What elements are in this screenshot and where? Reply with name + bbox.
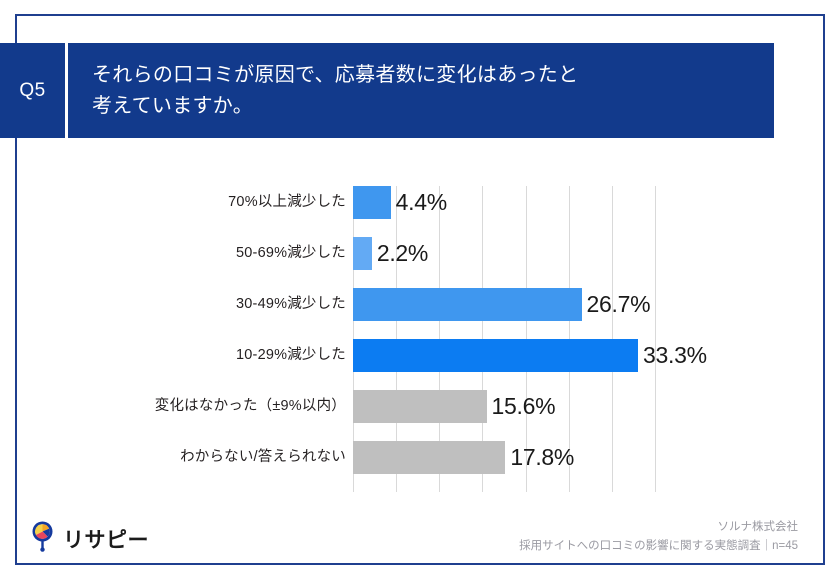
slide-footer: リサピー ソルナ株式会社 採用サイトへの口コミの影響に関する実態調査｜n=45 [0, 512, 840, 582]
question-header: Q5 それらの口コミが原因で、応募者数に変化はあったと 考えていますか。 [0, 43, 774, 138]
bar-category-label: わからない/答えられない [180, 441, 346, 474]
map-pin-pie-chart-icon [30, 520, 56, 557]
source-survey: 採用サイトへの口コミの影響に関する実態調査｜n=45 [519, 537, 798, 556]
source-attribution: ソルナ株式会社 採用サイトへの口コミの影響に関する実態調査｜n=45 [519, 518, 798, 556]
bar-category-label: 変化はなかった（±9%以内） [155, 390, 346, 423]
bar-row: 変化はなかった（±9%以内）15.6% [0, 390, 840, 423]
bar-value-label: 2.2% [377, 237, 428, 270]
bar-row: 30-49%減少した26.7% [0, 288, 840, 321]
bar-row: 70%以上減少した4.4% [0, 186, 840, 219]
bar-rect [353, 339, 638, 372]
bar-series: 70%以上減少した4.4%50-69%減少した2.2%30-49%減少した26.… [0, 186, 840, 496]
bar-value-label: 33.3% [643, 339, 707, 372]
question-number-badge: Q5 [0, 43, 65, 138]
question-text: それらの口コミが原因で、応募者数に変化はあったと 考えていますか。 [68, 60, 592, 122]
bar-value-label: 17.8% [510, 441, 574, 474]
question-text-box: それらの口コミが原因で、応募者数に変化はあったと 考えていますか。 [68, 43, 774, 138]
bar-value-label: 4.4% [396, 186, 447, 219]
source-company: ソルナ株式会社 [519, 518, 798, 537]
bar-row: わからない/答えられない17.8% [0, 441, 840, 474]
bar-category-label: 10-29%減少した [236, 339, 346, 372]
bar-rect [353, 441, 505, 474]
question-number-label: Q5 [19, 80, 45, 102]
bar-category-label: 50-69%減少した [236, 237, 346, 270]
brand-logo-text: リサピー [63, 524, 149, 554]
bar-value-label: 15.6% [492, 390, 556, 423]
bar-row: 10-29%減少した33.3% [0, 339, 840, 372]
bar-rect [353, 186, 391, 219]
bar-rect [353, 288, 582, 321]
bar-row: 50-69%減少した2.2% [0, 237, 840, 270]
bar-rect [353, 237, 372, 270]
bar-category-label: 30-49%減少した [236, 288, 346, 321]
brand-logo: リサピー [30, 520, 149, 557]
bar-value-label: 26.7% [587, 288, 651, 321]
bar-rect [353, 390, 487, 423]
bar-category-label: 70%以上減少した [228, 186, 346, 219]
